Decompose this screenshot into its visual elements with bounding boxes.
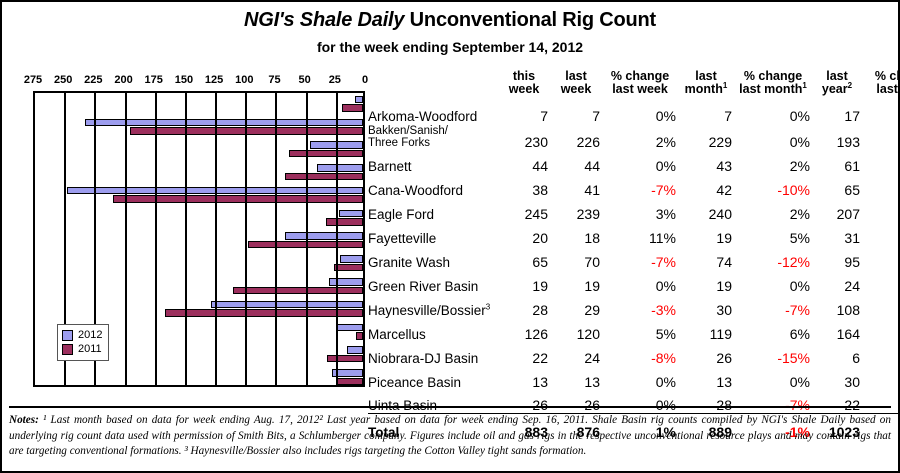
cell-last_week: 7 xyxy=(550,99,602,123)
bar-2012-6 xyxy=(285,232,363,240)
bar-2012-7 xyxy=(340,255,363,263)
table-row: Eagle Ford2452393%2402%20718% xyxy=(368,197,900,221)
bar-2011-4 xyxy=(113,195,363,203)
table-column-header-5: % changelast month1 xyxy=(734,70,812,99)
cell-chg_week: -7% xyxy=(602,173,678,197)
cell-last_week: 120 xyxy=(550,317,602,341)
row-label: Fayetteville xyxy=(368,221,498,245)
row-label: Cana-Woodford xyxy=(368,173,498,197)
bar-group-6 xyxy=(35,230,363,253)
bar-2012-11 xyxy=(347,346,363,354)
cell-chg_year: -23% xyxy=(862,317,900,341)
cell-this_week: 65 xyxy=(498,245,550,269)
bar-2011-0 xyxy=(342,104,363,112)
legend-label-2012: 2012 xyxy=(78,329,102,342)
bar-2011-2 xyxy=(289,150,363,158)
footnotes: Notes: ¹ Last month based on data for we… xyxy=(9,406,891,468)
bar-group-4 xyxy=(35,184,363,207)
cell-last_year: 31 xyxy=(812,221,862,245)
cell-chg_week: 0% xyxy=(602,365,678,389)
x-tick-225: 225 xyxy=(84,74,102,86)
cell-last_month: 30 xyxy=(678,293,734,317)
cell-chg_year: -32% xyxy=(862,245,900,269)
cell-chg_week: 0% xyxy=(602,99,678,123)
bar-2012-5 xyxy=(339,210,363,218)
gridline-25 xyxy=(336,93,338,385)
cell-last_month: 26 xyxy=(678,341,734,365)
legend-item-2012: 2012 xyxy=(62,329,102,342)
cell-chg_week: 5% xyxy=(602,317,678,341)
bar-group-0 xyxy=(35,93,363,116)
table-row: Cana-Woodford3841-7%42-10%65-42% xyxy=(368,173,900,197)
cell-this_week: 28 xyxy=(498,293,550,317)
cell-chg_month: 0% xyxy=(734,365,812,389)
cell-last_year: 65 xyxy=(812,173,862,197)
table-row: Barnett44440%432%61-28% xyxy=(368,149,900,173)
cell-last_year: 24 xyxy=(812,269,862,293)
cell-this_week: 38 xyxy=(498,173,550,197)
cell-last_month: 19 xyxy=(678,221,734,245)
notes-text: ¹ Last month based on data for week endi… xyxy=(9,414,891,457)
chart-plot-area: 2012 2011 xyxy=(33,91,365,387)
cell-last_year: 193 xyxy=(812,123,862,149)
x-tick-200: 200 xyxy=(114,74,132,86)
cell-chg_year: -59% xyxy=(862,99,900,123)
cell-last_month: 43 xyxy=(678,149,734,173)
bar-group-1 xyxy=(35,116,363,139)
row-label: Niobrara-DJ Basin xyxy=(368,341,498,365)
cell-last_month: 42 xyxy=(678,173,734,197)
cell-chg_month: -15% xyxy=(734,341,812,365)
cell-last_month: 19 xyxy=(678,269,734,293)
cell-last_week: 41 xyxy=(550,173,602,197)
bar-2011-10 xyxy=(356,332,363,340)
cell-this_week: 22 xyxy=(498,341,550,365)
cell-this_week: 230 xyxy=(498,123,550,149)
cell-last_week: 226 xyxy=(550,123,602,149)
cell-chg_week: 2% xyxy=(602,123,678,149)
cell-this_week: 13 xyxy=(498,365,550,389)
cell-last_week: 44 xyxy=(550,149,602,173)
cell-this_week: 19 xyxy=(498,269,550,293)
legend-item-2011: 2011 xyxy=(62,343,102,356)
cell-chg_year: -42% xyxy=(862,173,900,197)
row-label: Bakken/Sanish/Three Forks xyxy=(368,123,498,149)
row-label: Piceance Basin xyxy=(368,365,498,389)
legend-swatch-2012 xyxy=(62,330,73,341)
cell-last_week: 29 xyxy=(550,293,602,317)
row-label: Arkoma-Woodford xyxy=(368,99,498,123)
cell-last_week: 239 xyxy=(550,197,602,221)
bar-group-2 xyxy=(35,139,363,162)
row-label: Granite Wash xyxy=(368,245,498,269)
cell-chg_month: 2% xyxy=(734,149,812,173)
cell-last_year: 17 xyxy=(812,99,862,123)
table-row: Fayetteville201811%195%31-35% xyxy=(368,221,900,245)
table-row: Green River Basin19190%190%24-21% xyxy=(368,269,900,293)
x-tick-175: 175 xyxy=(145,74,163,86)
cell-last_year: 164 xyxy=(812,317,862,341)
page-title: NGI's Shale Daily Unconventional Rig Cou… xyxy=(2,8,898,32)
cell-chg_year: -57% xyxy=(862,365,900,389)
bar-2011-8 xyxy=(233,287,363,295)
cell-last_month: 229 xyxy=(678,123,734,149)
cell-chg_year: -74% xyxy=(862,293,900,317)
cell-this_week: 126 xyxy=(498,317,550,341)
bar-2011-9 xyxy=(165,309,363,317)
cell-chg_week: -8% xyxy=(602,341,678,365)
cell-chg_month: -12% xyxy=(734,245,812,269)
cell-last_month: 119 xyxy=(678,317,734,341)
table-row: Arkoma-Woodford770%70%17-59% xyxy=(368,99,900,123)
cell-chg_month: 0% xyxy=(734,99,812,123)
bar-2011-7 xyxy=(334,264,363,272)
rig-count-bar-chart: 2752502252001751501251007550250 2012 201… xyxy=(10,74,366,389)
x-tick-25: 25 xyxy=(329,74,341,86)
bar-group-12 xyxy=(35,366,363,389)
x-tick-125: 125 xyxy=(205,74,223,86)
notes-label: Notes: xyxy=(9,414,39,426)
bar-2012-3 xyxy=(317,164,363,172)
row-label: Green River Basin xyxy=(368,269,498,293)
cell-last_month: 240 xyxy=(678,197,734,221)
table-column-header-6: lastyear2 xyxy=(812,70,862,99)
table-column-header-3: % changelast week xyxy=(602,70,678,99)
rig-count-report: NGI's Shale Daily Unconventional Rig Cou… xyxy=(0,0,900,473)
x-axis-tick-labels: 2752502252001751501251007550250 xyxy=(10,74,366,91)
cell-chg_year: -28% xyxy=(862,149,900,173)
row-label: Barnett xyxy=(368,149,498,173)
cell-this_week: 20 xyxy=(498,221,550,245)
cell-last_week: 24 xyxy=(550,341,602,365)
bar-2012-1 xyxy=(85,119,363,127)
bar-2011-11 xyxy=(327,355,363,363)
bar-group-9 xyxy=(35,298,363,321)
cell-chg_month: 5% xyxy=(734,221,812,245)
cell-this_week: 245 xyxy=(498,197,550,221)
table-column-header-1: thisweek xyxy=(498,70,550,99)
bar-2011-12 xyxy=(336,378,363,386)
bar-group-8 xyxy=(35,275,363,298)
bar-group-3 xyxy=(35,161,363,184)
bar-2011-3 xyxy=(285,173,363,181)
bar-2012-0 xyxy=(355,96,363,104)
title-block: NGI's Shale Daily Unconventional Rig Cou… xyxy=(2,8,898,56)
cell-chg_month: -10% xyxy=(734,173,812,197)
table-body: Arkoma-Woodford770%70%17-59%Bakken/Sanis… xyxy=(368,99,900,439)
cell-last_year: 30 xyxy=(812,365,862,389)
cell-chg_week: -3% xyxy=(602,293,678,317)
x-tick-250: 250 xyxy=(54,74,72,86)
gridline-100 xyxy=(245,93,247,385)
chart-legend: 2012 2011 xyxy=(57,324,109,361)
cell-chg_month: 0% xyxy=(734,123,812,149)
bar-2012-9 xyxy=(211,301,363,309)
bar-2011-5 xyxy=(326,218,363,226)
cell-this_week: 7 xyxy=(498,99,550,123)
table-header-row: thisweeklastweek% changelast weeklastmon… xyxy=(368,70,900,99)
cell-chg_week: 0% xyxy=(602,149,678,173)
x-tick-275: 275 xyxy=(24,74,42,86)
cell-last_year: 61 xyxy=(812,149,862,173)
bar-group-5 xyxy=(35,207,363,230)
cell-last_month: 7 xyxy=(678,99,734,123)
cell-chg_month: 6% xyxy=(734,317,812,341)
cell-chg_year: 18% xyxy=(862,197,900,221)
x-tick-75: 75 xyxy=(268,74,280,86)
gridline-175 xyxy=(155,93,157,385)
bar-group-7 xyxy=(35,252,363,275)
cell-last_week: 70 xyxy=(550,245,602,269)
title-main-text: Unconventional Rig Count xyxy=(404,9,656,31)
table-row: Bakken/Sanish/Three Forks2302262%2290%19… xyxy=(368,123,900,149)
title-brand: NGI's Shale Daily xyxy=(244,9,404,31)
cell-last_year: 95 xyxy=(812,245,862,269)
x-tick-100: 100 xyxy=(235,74,253,86)
row-label: Marcellus xyxy=(368,317,498,341)
gridline-200 xyxy=(125,93,127,385)
cell-last_week: 19 xyxy=(550,269,602,293)
cell-last_year: 6 xyxy=(812,341,862,365)
cell-chg_year: -21% xyxy=(862,269,900,293)
gridline-50 xyxy=(306,93,308,385)
bar-2012-10 xyxy=(336,324,363,332)
cell-last_year: 108 xyxy=(812,293,862,317)
table-row: Granite Wash6570-7%74-12%95-32% xyxy=(368,245,900,269)
cell-chg_month: 2% xyxy=(734,197,812,221)
cell-last_month: 74 xyxy=(678,245,734,269)
cell-chg_week: 3% xyxy=(602,197,678,221)
gridline-75 xyxy=(275,93,277,385)
row-label: Eagle Ford xyxy=(368,197,498,221)
cell-chg_week: 0% xyxy=(602,269,678,293)
cell-last_week: 18 xyxy=(550,221,602,245)
rig-count-table: thisweeklastweek% changelast weeklastmon… xyxy=(368,70,894,439)
table-column-header-4: lastmonth1 xyxy=(678,70,734,99)
row-label: Haynesville/Bossier3 xyxy=(368,293,498,317)
cell-last_week: 13 xyxy=(550,365,602,389)
table-row: Piceance Basin13130%130%30-57% xyxy=(368,365,900,389)
bar-2012-8 xyxy=(329,278,363,286)
x-tick-50: 50 xyxy=(299,74,311,86)
page-subtitle: for the week ending September 14, 2012 xyxy=(2,38,898,56)
cell-chg_month: -7% xyxy=(734,293,812,317)
cell-chg_week: 11% xyxy=(602,221,678,245)
table-column-header-0 xyxy=(368,70,498,99)
cell-chg_year: 267% xyxy=(862,341,900,365)
cell-chg_year: -35% xyxy=(862,221,900,245)
gridline-150 xyxy=(185,93,187,385)
gridline-125 xyxy=(215,93,217,385)
table-column-header-2: lastweek xyxy=(550,70,602,99)
table-row: Niobrara-DJ Basin2224-8%26-15%6267% xyxy=(368,341,900,365)
table-header: thisweeklastweek% changelast weeklastmon… xyxy=(368,70,900,99)
legend-swatch-2011 xyxy=(62,344,73,355)
cell-last_month: 13 xyxy=(678,365,734,389)
table-row: Marcellus1261205%1196%164-23% xyxy=(368,317,900,341)
table-column-header-7: % changelast year2 xyxy=(862,70,900,99)
cell-chg_week: -7% xyxy=(602,245,678,269)
legend-label-2011: 2011 xyxy=(78,343,102,356)
cell-chg_year: 19% xyxy=(862,123,900,149)
table-row: Haynesville/Bossier32829-3%30-7%108-74% xyxy=(368,293,900,317)
cell-chg_month: 0% xyxy=(734,269,812,293)
x-tick-150: 150 xyxy=(175,74,193,86)
cell-last_year: 207 xyxy=(812,197,862,221)
cell-this_week: 44 xyxy=(498,149,550,173)
